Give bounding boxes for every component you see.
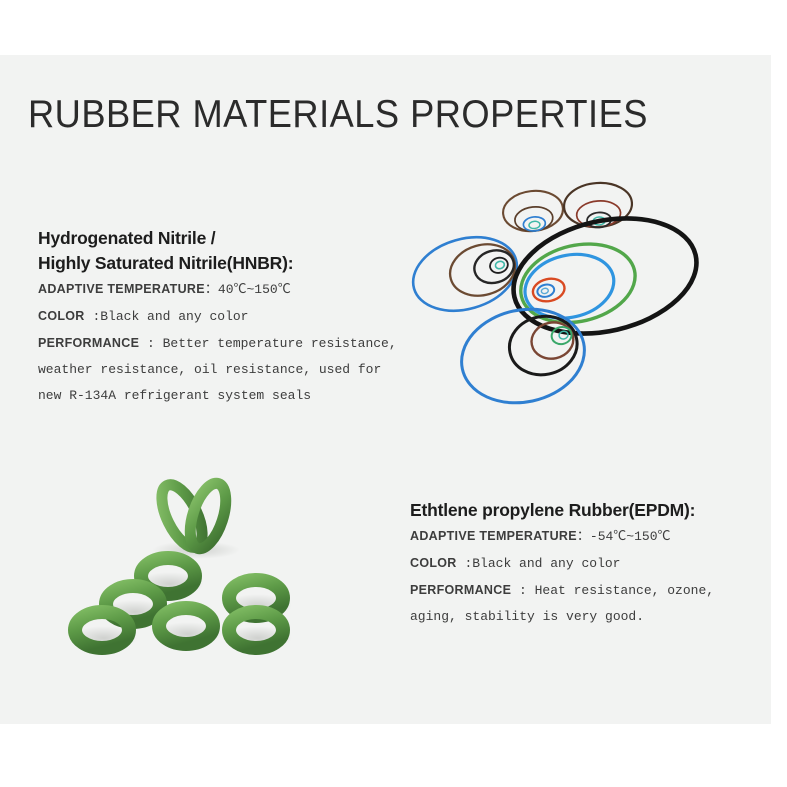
hnbr-temperature-row: ADAPTIVE TEMPERATURE：40℃~150℃ [38, 276, 397, 303]
hnbr-color-row: COLOR :Black and any color [38, 303, 397, 330]
epdm-temperature-row: ADAPTIVE TEMPERATURE：-54℃~150℃ [410, 523, 714, 550]
hnbr-color-value: :Black and any color [85, 309, 249, 324]
oring-assortment-photo [398, 172, 728, 434]
hnbr-temperature-value: ：40℃~150℃ [205, 282, 291, 297]
hnbr-temperature-label: ADAPTIVE TEMPERATURE [38, 282, 205, 296]
hnbr-heading-line1: Hydrogenated Nitrile / [38, 226, 397, 251]
page-root: RUBBER MATERIALS PROPERTIES Hydrogenated… [0, 0, 787, 787]
hnbr-heading-line2: Highly Saturated Nitrile(HNBR): [38, 251, 397, 276]
epdm-color-label: COLOR [410, 556, 457, 570]
green-orings-photo [58, 466, 324, 672]
hnbr-performance-label: PERFORMANCE [38, 336, 139, 350]
epdm-performance-row: PERFORMANCE : Heat resistance, ozone, [410, 577, 714, 604]
epdm-heading-line1: Ethtlene propylene Rubber(EPDM): [410, 498, 714, 523]
epdm-temperature-label: ADAPTIVE TEMPERATURE [410, 529, 577, 543]
hnbr-color-label: COLOR [38, 309, 85, 323]
hnbr-performance-row: PERFORMANCE : Better temperature resista… [38, 330, 397, 357]
page-title: RUBBER MATERIALS PROPERTIES [28, 93, 648, 137]
epdm-performance-line1: : Heat resistance, ozone, [511, 583, 714, 598]
epdm-color-row: COLOR :Black and any color [410, 550, 714, 577]
hnbr-material-block: Hydrogenated Nitrile / Highly Saturated … [38, 226, 397, 409]
hnbr-performance-line1: : Better temperature resistance, [139, 336, 396, 351]
epdm-performance-label: PERFORMANCE [410, 583, 511, 597]
epdm-color-value: :Black and any color [457, 556, 621, 571]
epdm-performance-line2: aging, stability is very good. [410, 604, 714, 630]
hnbr-performance-line3: new R-134A refrigerant system seals [38, 383, 397, 409]
epdm-material-block: Ethtlene propylene Rubber(EPDM): ADAPTIV… [410, 498, 714, 630]
hnbr-performance-line2: weather resistance, oil resistance, used… [38, 357, 397, 383]
epdm-temperature-value: ：-54℃~150℃ [577, 529, 671, 544]
